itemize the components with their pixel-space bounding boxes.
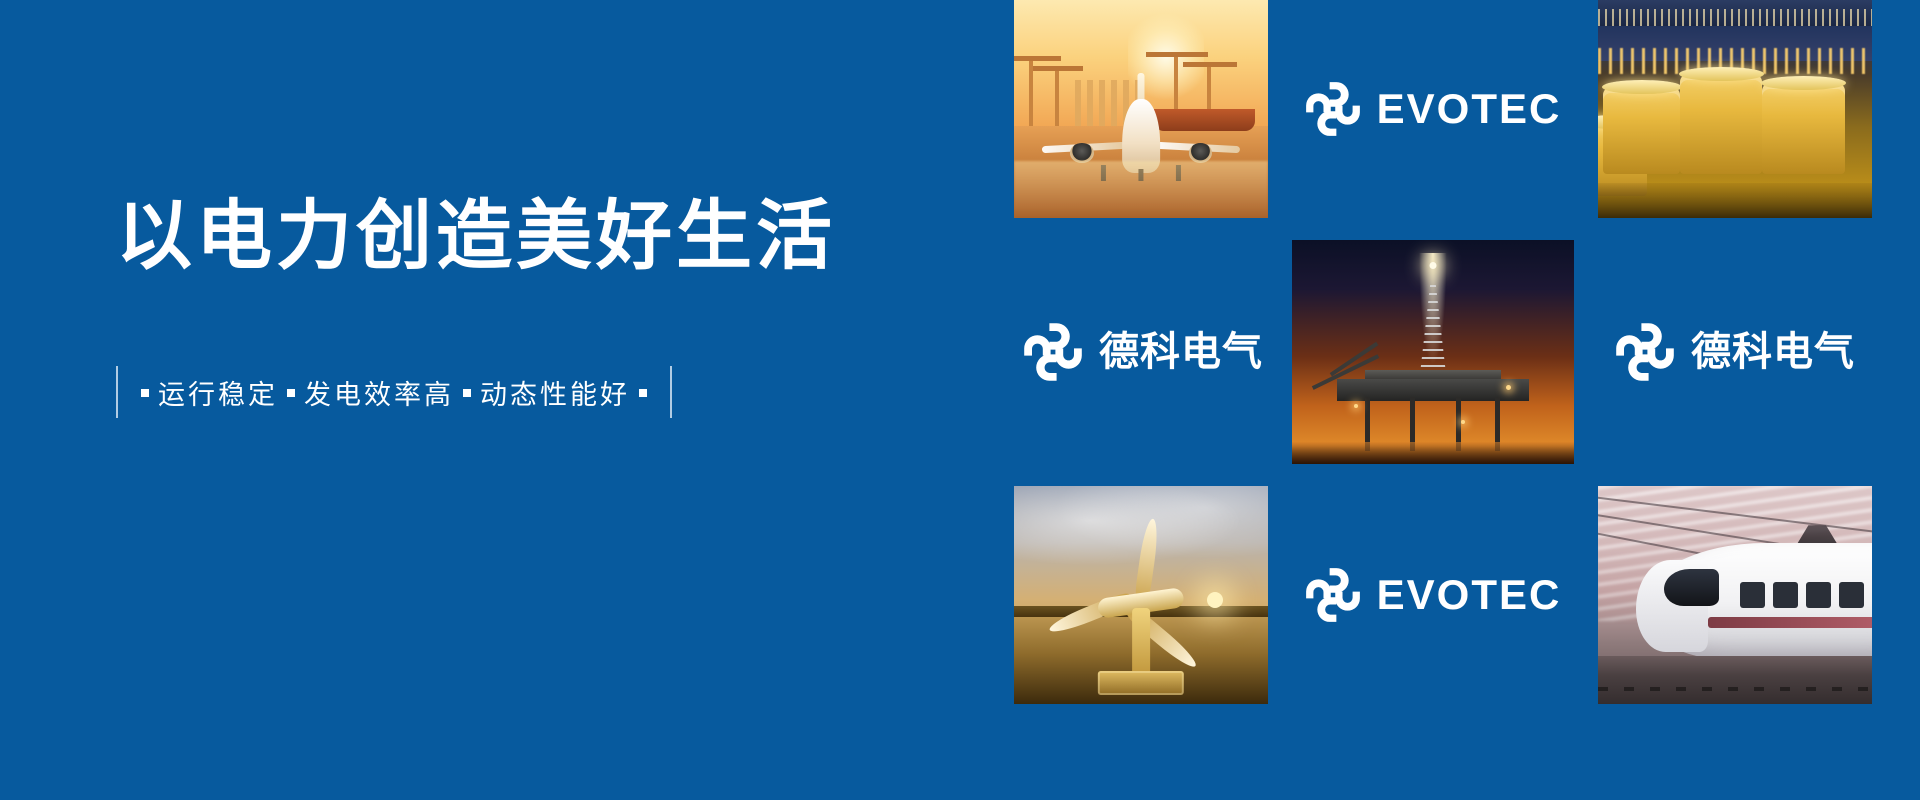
feature-item-2: 动态性能好 — [480, 373, 630, 412]
brand-image-grid: EVOTEC — [1018, 0, 1920, 800]
left-rule-divider — [116, 366, 118, 418]
evotec-wordmark: EVOTEC — [1377, 574, 1562, 616]
deke-wordmark: 德科电气 — [1099, 332, 1263, 372]
feature-item-1: 发电效率高 — [304, 373, 454, 412]
feature-item-0: 运行稳定 — [158, 373, 278, 412]
bullet-square-icon — [287, 389, 295, 397]
banner-copy-block: 以电力创造美好生活 运行稳定 发电效率高 动态性能好 — [116, 198, 936, 418]
photo-tile-oil-tank-farm — [1598, 0, 1872, 218]
page-title: 以电力创造美好生活 — [116, 198, 936, 274]
evotec-logo-lockup: EVOTEC — [1305, 81, 1562, 137]
logo-tile-evotec-bottom: EVOTEC — [1292, 486, 1574, 704]
deke-logo-lockup: 德科电气 — [1023, 322, 1263, 382]
offshore-oil-rig-illustration — [1292, 240, 1574, 464]
evotec-logo-lockup: EVOTEC — [1305, 567, 1562, 623]
photo-tile-airport-plane — [1014, 0, 1268, 218]
right-rule-divider — [670, 366, 672, 418]
evotec-pinwheel-mark-icon — [1305, 81, 1361, 137]
evotec-wordmark: EVOTEC — [1377, 88, 1562, 130]
bullet-square-icon — [141, 389, 149, 397]
evotec-pinwheel-mark-icon — [1615, 322, 1675, 382]
logo-tile-evotec-top: EVOTEC — [1292, 0, 1574, 218]
promo-banner: 以电力创造美好生活 运行稳定 发电效率高 动态性能好 — [0, 0, 1920, 800]
bullet-square-icon — [463, 389, 471, 397]
photo-tile-offshore-rig — [1292, 240, 1574, 464]
evotec-pinwheel-mark-icon — [1023, 322, 1083, 382]
logo-tile-deke-left: 德科电气 — [1018, 240, 1268, 464]
logo-tile-deke-right: 德科电气 — [1598, 240, 1872, 464]
oil-tank-farm-illustration — [1598, 0, 1872, 218]
wind-turbine-illustration — [1014, 486, 1268, 704]
airport-scene-illustration — [1014, 0, 1268, 218]
photo-tile-high-speed-train — [1598, 486, 1872, 704]
bullet-square-icon — [639, 389, 647, 397]
feature-list-items: 运行稳定 发电效率高 动态性能好 — [132, 373, 656, 412]
photo-tile-wind-turbine — [1014, 486, 1268, 704]
evotec-pinwheel-mark-icon — [1305, 567, 1361, 623]
deke-logo-lockup: 德科电气 — [1615, 322, 1855, 382]
high-speed-train-illustration — [1598, 486, 1872, 704]
feature-list: 运行稳定 发电效率高 动态性能好 — [116, 366, 936, 418]
deke-wordmark: 德科电气 — [1691, 332, 1855, 372]
